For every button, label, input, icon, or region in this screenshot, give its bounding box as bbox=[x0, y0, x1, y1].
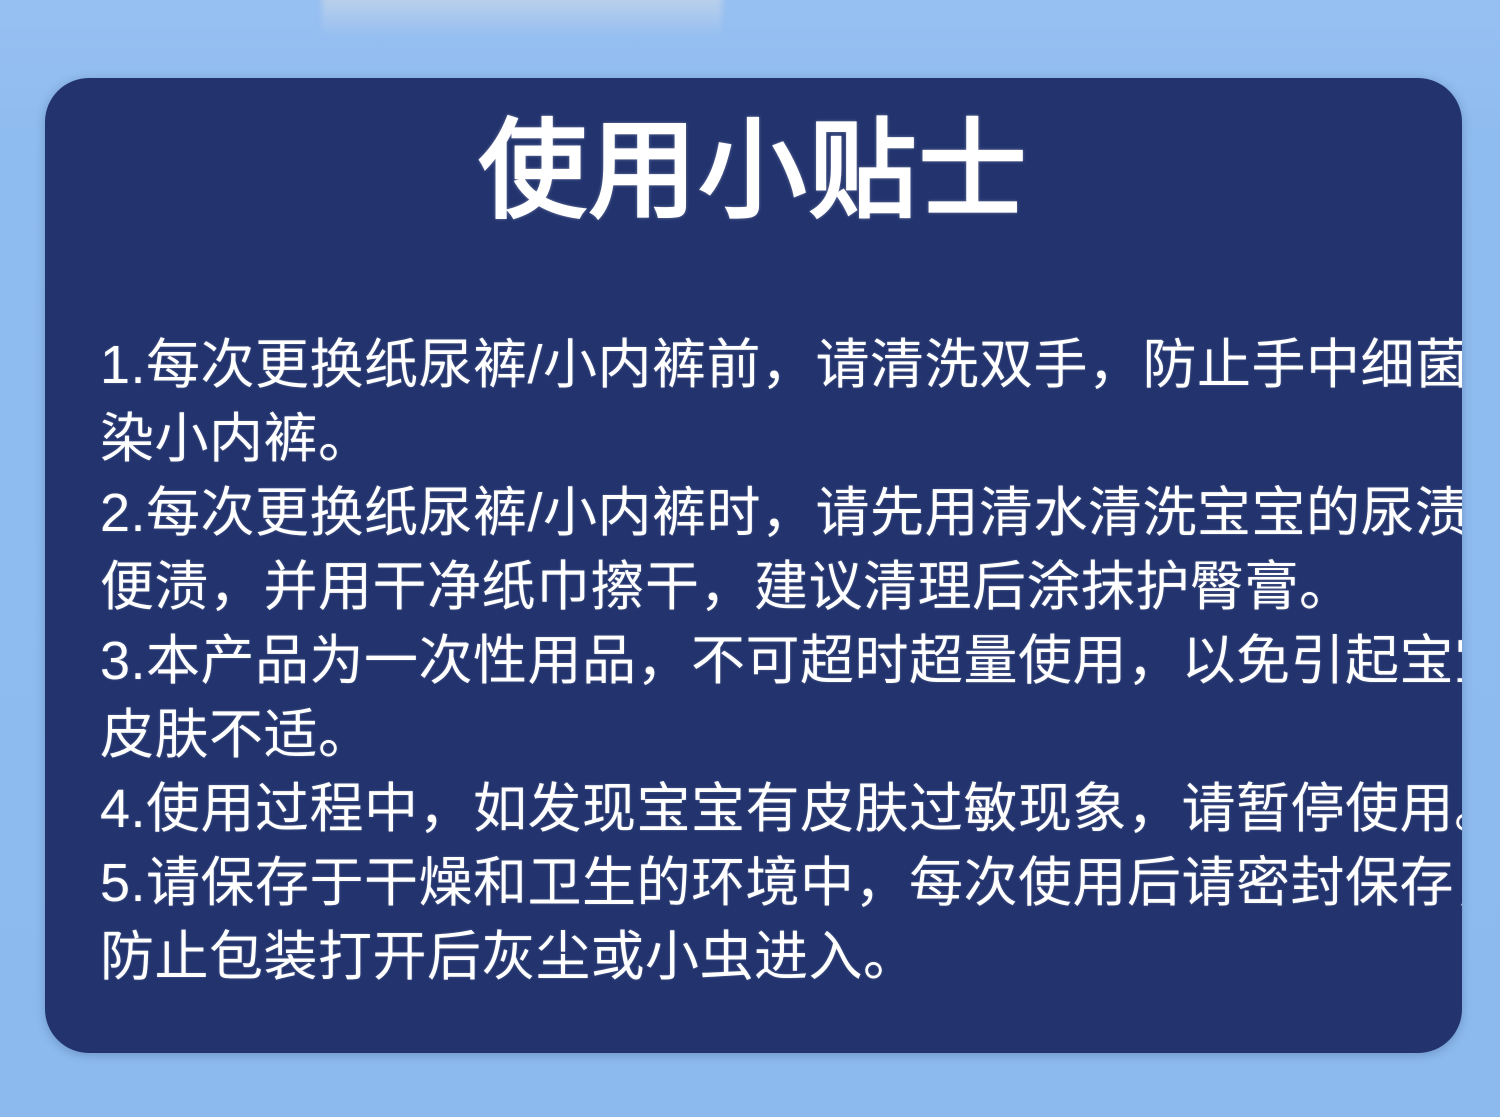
tip-line: 4.使用过程中，如发现宝宝有皮肤过敏现象，请暂停使用。 bbox=[100, 772, 1410, 846]
tip-line: 防止包装打开后灰尘或小虫进入。 bbox=[100, 920, 1410, 994]
tips-list: 1.每次更换纸尿裤/小内裤前，请清洗双手，防止手中细菌污 染小内裤。 2.每次更… bbox=[100, 328, 1410, 994]
tip-line: 2.每次更换纸尿裤/小内裤时，请先用清水清洗宝宝的尿渍或 bbox=[100, 476, 1410, 550]
tip-line: 3.本产品为一次性用品，不可超时超量使用，以免引起宝宝 bbox=[100, 624, 1410, 698]
background-haze-panel bbox=[322, 0, 722, 36]
tip-line: 1.每次更换纸尿裤/小内裤前，请清洗双手，防止手中细菌污 bbox=[100, 328, 1410, 402]
tip-line: 皮肤不适。 bbox=[100, 698, 1410, 772]
usage-tips-card: 使用小贴士 1.每次更换纸尿裤/小内裤前，请清洗双手，防止手中细菌污 染小内裤。… bbox=[45, 78, 1462, 1053]
tip-line: 5.请保存于干燥和卫生的环境中，每次使用后请密封保存， bbox=[100, 846, 1410, 920]
tip-line: 染小内裤。 bbox=[100, 402, 1410, 476]
page-title: 使用小贴士 bbox=[45, 111, 1462, 232]
tip-line: 便渍，并用干净纸巾擦干，建议清理后涂抹护臀膏。 bbox=[100, 550, 1410, 624]
product-tips-page: 使用小贴士 1.每次更换纸尿裤/小内裤前，请清洗双手，防止手中细菌污 染小内裤。… bbox=[0, 0, 1500, 1117]
